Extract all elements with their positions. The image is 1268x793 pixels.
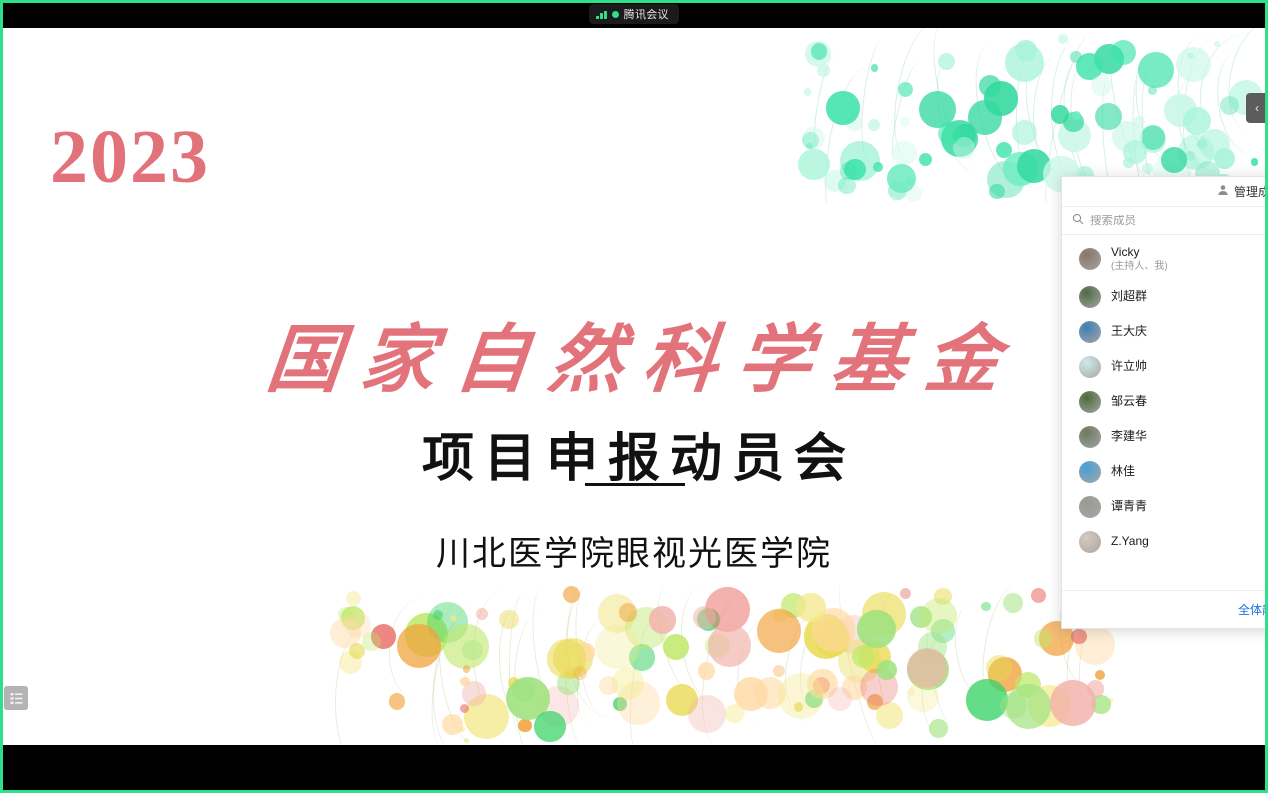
decor-thread: [569, 585, 625, 720]
decor-bubble: [778, 673, 824, 719]
decor-bubble: [1091, 75, 1112, 96]
decor-bubble: [842, 675, 867, 700]
decor-bubble: [464, 738, 469, 743]
decor-bubble: [362, 632, 381, 651]
decor-bubble: [1000, 692, 1027, 719]
decor-bubble: [981, 602, 990, 611]
decor-bubble: [330, 618, 361, 649]
decor-bubble: [798, 149, 829, 180]
mute-all-button[interactable]: 全体静音: [1238, 601, 1268, 618]
participant-row[interactable]: 邹云春: [1062, 384, 1268, 419]
decor-thread: [561, 585, 646, 720]
manage-members-label: 管理成员: [1234, 183, 1268, 200]
participant-name: 李建华: [1111, 430, 1147, 444]
decor-bubble: [898, 82, 913, 97]
decor-bubble: [349, 643, 365, 659]
decor-bubble: [1251, 158, 1259, 166]
decor-bubble: [463, 665, 470, 672]
decor-bubble: [697, 608, 720, 631]
search-input[interactable]: [1090, 215, 1260, 227]
decor-bubble: [757, 609, 801, 653]
decor-bubble: [1095, 670, 1105, 680]
decoration-bottom: [330, 585, 1120, 745]
decor-bubble: [725, 704, 743, 722]
decor-bubble: [339, 651, 362, 674]
decor-bubble: [1012, 120, 1038, 146]
decor-thread: [808, 51, 849, 160]
decor-thread: [1217, 28, 1268, 143]
decor-bubble: [873, 162, 883, 172]
decor-thread: [916, 617, 998, 745]
participant-row[interactable]: 林佳: [1062, 454, 1268, 489]
decor-bubble: [460, 677, 470, 687]
decor-bubble: [754, 677, 786, 709]
decor-bubble: [892, 141, 916, 165]
decor-bubble: [824, 170, 846, 192]
decor-bubble: [1133, 116, 1145, 128]
decor-bubble: [907, 681, 939, 713]
decor-bubble: [443, 624, 489, 670]
decor-bubble: [598, 594, 636, 632]
search-icon: [1072, 213, 1084, 228]
decor-bubble: [1091, 695, 1110, 714]
decor-bubble: [1028, 685, 1071, 728]
decor-bubble: [804, 88, 812, 96]
search-members-row[interactable]: [1062, 207, 1268, 235]
decor-bubble: [1187, 53, 1194, 60]
participant-name: Z.Yang: [1111, 535, 1149, 549]
decor-bubble: [989, 184, 1004, 199]
decor-bubble: [1095, 103, 1123, 131]
decor-thread: [689, 585, 782, 745]
decor-thread: [1100, 33, 1176, 188]
participants-list[interactable]: Vicky(主持人、我)刘超群王大庆许立帅邹云春李建华林佳谭青青Z.Yang: [1062, 235, 1268, 590]
slide-year: 2023: [50, 114, 210, 201]
decor-bubble: [708, 624, 751, 667]
decor-thread: [649, 585, 710, 697]
decor-bubble: [460, 704, 469, 713]
decor-thread: [571, 619, 618, 728]
participant-row[interactable]: 谭青青: [1062, 489, 1268, 524]
avatar: [1079, 248, 1101, 270]
decor-bubble: [813, 677, 830, 694]
decor-thread: [565, 585, 609, 745]
decor-bubble: [857, 610, 896, 649]
decor-bubble: [1185, 151, 1195, 161]
decor-thread: [732, 614, 794, 725]
decor-thread: [885, 58, 931, 168]
decor-thread: [831, 585, 894, 745]
decor-bubble: [1058, 34, 1068, 44]
participant-row[interactable]: 王大庆: [1062, 314, 1268, 349]
decor-bubble: [625, 607, 667, 649]
participant-name: 林佳: [1111, 465, 1135, 479]
decor-thread: [429, 613, 508, 745]
decor-thread: [621, 595, 699, 745]
meeting-app-name: 腾讯会议: [624, 6, 669, 22]
decor-bubble: [464, 694, 509, 739]
participant-row[interactable]: Vicky(主持人、我): [1062, 239, 1268, 279]
decor-bubble: [1214, 148, 1235, 169]
green-status-dot: [612, 11, 619, 18]
decor-bubble: [1112, 121, 1143, 152]
manage-members-button[interactable]: 管理成员: [1062, 177, 1268, 207]
decor-bubble: [1006, 684, 1051, 729]
decor-bubble: [966, 679, 1007, 720]
decor-bubble: [804, 614, 848, 658]
decor-bubble: [1031, 588, 1046, 603]
decor-bubble: [905, 185, 922, 202]
decor-bubble: [871, 64, 878, 71]
decor-bubble: [887, 164, 916, 193]
decor-thread: [920, 611, 963, 727]
decor-bubble: [1176, 47, 1211, 82]
decor-thread: [430, 598, 512, 745]
decor-bubble: [346, 591, 361, 606]
decor-bubble: [577, 643, 595, 661]
decor-bubble: [1087, 680, 1105, 698]
decor-bubble: [907, 649, 948, 690]
decor-bubble: [649, 606, 676, 633]
decor-thread: [773, 593, 875, 732]
decor-bubble: [599, 676, 618, 695]
decor-bubble: [1108, 698, 1113, 703]
decor-bubble: [1138, 52, 1174, 88]
decor-bubble: [338, 607, 354, 623]
decor-bubble: [1005, 43, 1044, 82]
decor-bubble: [781, 593, 806, 618]
participant-role: (主持人、我): [1111, 261, 1168, 273]
participant-name: 刘超群: [1111, 290, 1147, 304]
decor-thread: [962, 34, 1058, 195]
decor-bubble: [1214, 41, 1220, 47]
decor-bubble: [1197, 139, 1207, 149]
participant-name: 邹云春: [1111, 395, 1147, 409]
decor-bubble: [1183, 154, 1198, 169]
decor-thread: [876, 588, 918, 715]
participant-row[interactable]: 刘超群: [1062, 279, 1268, 314]
decor-bubble: [934, 588, 952, 606]
participants-panel-footer: 全体静音: [1062, 590, 1268, 628]
decor-bubble: [986, 655, 1012, 681]
participant-name: 王大庆: [1111, 325, 1147, 339]
decor-bubble: [1140, 126, 1166, 152]
decor-bubble: [938, 53, 955, 70]
decor-bubble: [617, 681, 660, 724]
decor-thread: [421, 600, 501, 745]
avatar: [1079, 321, 1101, 343]
decor-bubble: [595, 625, 639, 669]
decor-bubble: [1015, 40, 1036, 61]
decor-bubble: [805, 690, 823, 708]
decor-bubble: [919, 91, 956, 128]
decor-thread: [471, 591, 536, 723]
decor-bubble: [557, 672, 579, 694]
decor-bubble: [987, 161, 1025, 199]
decor-thread: [672, 585, 756, 713]
participant-name: 许立帅: [1111, 360, 1147, 374]
decor-bubble: [462, 681, 486, 705]
decor-bubble: [807, 669, 837, 699]
decor-bubble: [573, 666, 587, 680]
meeting-top-bar: 腾讯会议: [0, 0, 1268, 28]
decor-bubble: [563, 586, 580, 603]
subtitle-underline: [585, 483, 685, 486]
decor-bubble: [1070, 51, 1082, 63]
decor-thread: [527, 586, 574, 711]
decor-bubble: [968, 100, 1003, 135]
decor-bubble: [852, 645, 875, 668]
decor-bubble: [450, 615, 457, 622]
decor-bubble: [397, 624, 441, 668]
decor-bubble: [840, 162, 858, 180]
decor-bubble: [844, 159, 865, 180]
decor-bubble: [734, 677, 768, 711]
decor-bubble: [427, 602, 468, 643]
decor-bubble: [508, 677, 520, 689]
decor-bubble: [907, 648, 947, 688]
decor-thread: [334, 620, 415, 745]
decor-thread: [815, 60, 907, 203]
decor-bubble: [1076, 53, 1102, 79]
avatar: [1079, 496, 1101, 518]
decor-bubble: [900, 588, 911, 599]
decor-bubble: [1003, 593, 1023, 613]
decor-bubble: [919, 153, 932, 166]
decor-bubble: [834, 615, 873, 654]
decor-thread: [1126, 47, 1210, 174]
decor-bubble: [1199, 129, 1230, 160]
avatar: [1079, 391, 1101, 413]
decor-bubble: [838, 639, 882, 683]
decor-thread: [1031, 54, 1082, 173]
decor-bubble: [996, 142, 1013, 159]
person-icon: [1217, 184, 1229, 199]
participant-name: Vicky: [1111, 246, 1168, 260]
decor-bubble: [1051, 105, 1070, 124]
decor-bubble: [876, 702, 904, 730]
decor-bubble: [938, 122, 961, 145]
decor-bubble: [941, 120, 978, 157]
decor-bubble: [908, 688, 915, 695]
decor-bubble: [929, 719, 948, 738]
decor-bubble: [826, 91, 859, 124]
decor-bubble: [433, 610, 443, 620]
decor-bubble: [910, 606, 932, 628]
decor-bubble: [629, 644, 656, 671]
decor-bubble: [1003, 152, 1037, 186]
decor-bubble: [612, 667, 644, 699]
decor-bubble: [666, 684, 698, 716]
decor-bubble: [838, 177, 856, 195]
decor-bubble: [918, 632, 947, 661]
decor-bubble: [828, 687, 852, 711]
decor-bubble: [846, 115, 863, 132]
decor-bubble: [1111, 40, 1136, 65]
decor-bubble: [1017, 149, 1051, 183]
decor-bubble: [1178, 134, 1214, 170]
decor-thread: [1191, 28, 1268, 148]
decor-bubble: [499, 610, 518, 629]
decor-bubble: [812, 608, 855, 651]
chevron-left-icon[interactable]: ‹: [1246, 93, 1268, 123]
decor-bubble: [1058, 119, 1091, 152]
decor-thread: [1172, 29, 1256, 154]
decor-bubble: [1123, 140, 1146, 163]
decor-bubble: [877, 660, 898, 681]
decor-bubble: [802, 127, 824, 149]
participant-row[interactable]: 李建华: [1062, 419, 1268, 454]
decor-bubble: [860, 668, 898, 706]
decor-bubble: [619, 603, 638, 622]
decor-bubble: [1164, 94, 1197, 127]
participants-panel: 管理成员 Vicky(主持人、我)刘超群王大庆许立帅邹云春李建华林佳谭青青Z.Y…: [1061, 176, 1268, 629]
decor-bubble: [405, 613, 448, 656]
decor-bubble: [534, 711, 566, 743]
decor-bubble: [389, 693, 406, 710]
avatar: [1079, 286, 1101, 308]
decor-bubble: [1050, 680, 1096, 726]
decor-bubble: [698, 662, 716, 680]
decor-bubble: [688, 695, 726, 733]
decor-thread: [884, 28, 961, 167]
decor-bubble: [794, 702, 804, 712]
decor-thread: [1013, 44, 1106, 189]
decor-bubble: [462, 640, 483, 661]
decor-bubble: [1063, 112, 1084, 133]
decor-bubble: [773, 608, 787, 622]
decor-bubble: [888, 181, 906, 199]
participant-row[interactable]: Z.Yang: [1062, 524, 1268, 559]
avatar: [1079, 461, 1101, 483]
decor-thread: [975, 585, 1052, 725]
decor-bubble: [802, 132, 819, 149]
decor-bubble: [988, 657, 1022, 691]
decor-bubble: [1161, 147, 1187, 173]
decor-bubble: [1148, 86, 1157, 95]
decor-bubble: [773, 665, 785, 677]
participant-name: 谭青青: [1111, 500, 1147, 514]
decor-bubble: [371, 624, 396, 649]
decor-bubble: [953, 124, 976, 147]
decor-thread: [508, 591, 540, 735]
decor-bubble: [1123, 157, 1134, 168]
decor-bubble: [506, 677, 550, 721]
decor-bubble: [953, 137, 975, 159]
participant-row[interactable]: 许立帅: [1062, 349, 1268, 384]
decor-bubble: [1075, 625, 1115, 665]
decor-thread: [927, 55, 996, 177]
decor-thread: [1050, 32, 1125, 195]
decor-thread: [949, 598, 1015, 704]
decor-thread: [922, 28, 1001, 167]
decor-bubble: [806, 143, 813, 150]
decor-bubble: [921, 598, 957, 634]
avatar: [1079, 426, 1101, 448]
decor-bubble: [693, 606, 716, 629]
decor-bubble: [868, 119, 880, 131]
decor-bubble: [906, 177, 914, 185]
decor-bubble: [862, 592, 906, 636]
decor-bubble: [1141, 125, 1165, 149]
decor-bubble: [805, 41, 831, 67]
decor-bubble: [341, 606, 365, 630]
decor-bubble: [705, 634, 730, 659]
decor-thread: [1014, 51, 1056, 191]
decor-bubble: [1142, 163, 1153, 174]
decor-bubble: [565, 668, 577, 680]
decor-bubble: [512, 680, 534, 702]
decor-bubble: [345, 612, 372, 639]
decor-bubble: [518, 719, 532, 733]
decor-bubble: [814, 620, 851, 657]
decor-bubble: [553, 638, 593, 678]
decor-bubble: [1183, 107, 1211, 135]
avatar: [1079, 531, 1101, 553]
decor-bubble: [811, 43, 827, 59]
decor-bubble: [613, 697, 627, 711]
decor-bubble: [859, 641, 891, 673]
decor-bubble: [1015, 672, 1041, 698]
decor-bubble: [796, 593, 826, 623]
decor-thread: [512, 610, 577, 745]
decor-bubble: [459, 727, 464, 732]
decor-bubble: [1034, 629, 1053, 648]
avatar: [1079, 356, 1101, 378]
decor-bubble: [705, 587, 751, 633]
decor-bubble: [931, 619, 955, 643]
decor-bubble: [442, 714, 463, 735]
decor-bubble: [979, 75, 1001, 97]
decor-thread: [497, 604, 547, 720]
decor-thread: [856, 37, 900, 166]
decor-bubble: [867, 694, 883, 710]
decor-bubble: [1220, 96, 1239, 115]
list-notes-icon[interactable]: [4, 686, 28, 710]
meeting-status-pill[interactable]: 腾讯会议: [589, 4, 679, 24]
decor-bubble: [1094, 44, 1124, 74]
decor-bubble: [900, 117, 910, 127]
decor-bubble: [538, 686, 579, 727]
meeting-bottom-bar: [0, 745, 1268, 793]
decor-thread: [384, 595, 453, 700]
decor-bubble: [840, 141, 880, 181]
decor-bubble: [1071, 629, 1087, 645]
signal-bars-icon: [596, 10, 607, 19]
decor-bubble: [663, 634, 689, 660]
decor-bubble: [476, 608, 488, 620]
decor-bubble: [547, 639, 586, 678]
decor-thread: [794, 610, 853, 718]
decor-bubble: [892, 196, 897, 201]
decor-bubble: [1072, 111, 1081, 120]
decor-bubble: [984, 81, 1018, 115]
decor-bubble: [817, 64, 830, 77]
